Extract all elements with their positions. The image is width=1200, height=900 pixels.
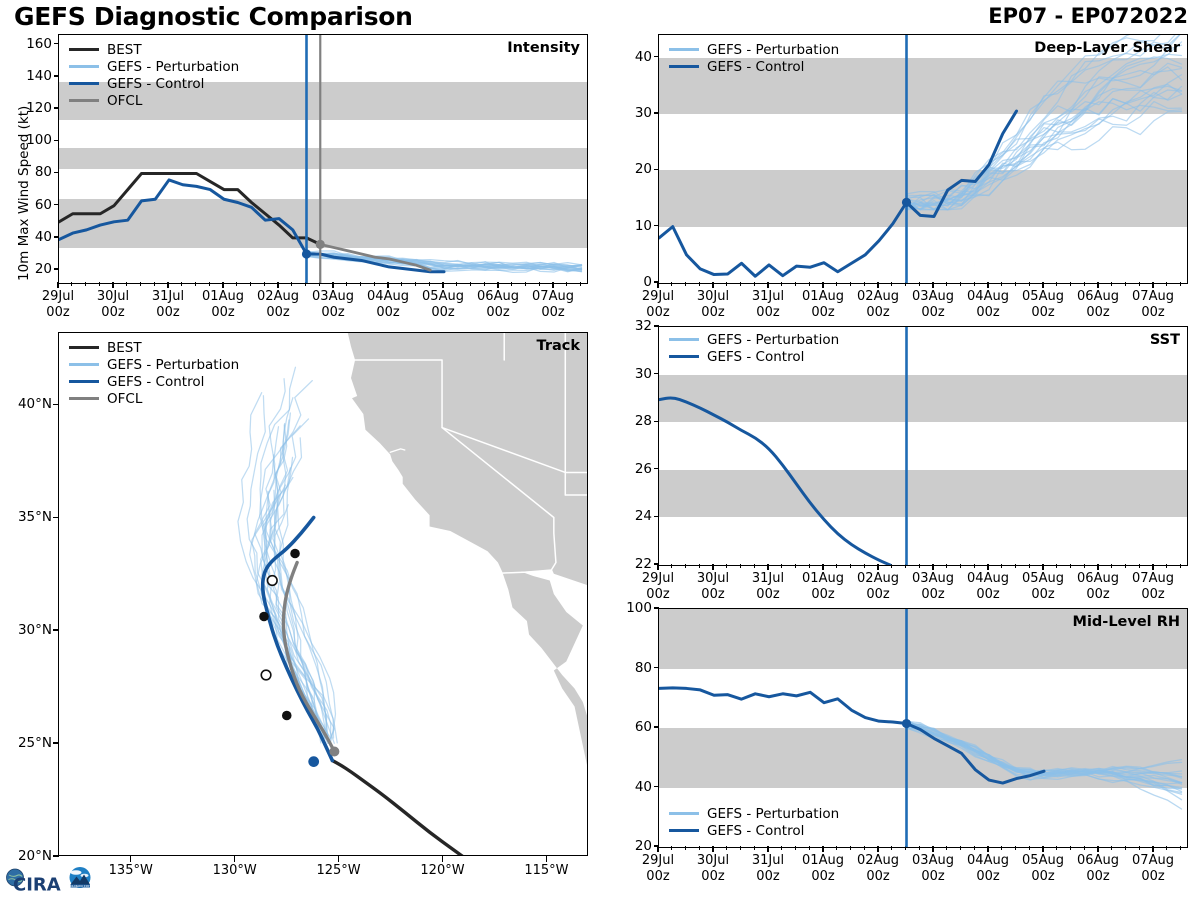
x-tick-date: 07Aug	[1132, 571, 1174, 586]
x-axis-tick-label: 02Aug00z	[857, 571, 899, 603]
x-tick-hour: 00z	[1086, 869, 1109, 884]
x-tick-date: 06Aug	[1077, 571, 1119, 586]
y-axis-tick-label: 10	[616, 218, 652, 234]
x-axis-tick-label: 04Aug00z	[967, 289, 1009, 321]
ofcl-start-marker	[329, 747, 339, 757]
series-gefs-control	[659, 688, 1044, 783]
x-tick-date: 04Aug	[967, 289, 1009, 304]
x-axis-tick-label: 06Aug00z	[477, 289, 519, 321]
legend-swatch-control	[69, 380, 99, 383]
y-axis-tick-label: 100	[616, 600, 652, 616]
lon-tick-label: 125°W	[316, 863, 360, 879]
x-tick-hour: 00z	[46, 305, 69, 320]
x-axis-tick-label: 05Aug00z	[1022, 571, 1064, 603]
x-tick-date: 01Aug	[802, 289, 844, 304]
x-tick-date: 29Jul	[642, 571, 674, 586]
x-tick-hour: 00z	[976, 869, 999, 884]
y-axis-tick-label: 80	[16, 164, 52, 180]
x-tick-hour: 00z	[1031, 869, 1054, 884]
y-axis-tick-label: 40	[16, 229, 52, 245]
shear-legend: GEFS - Perturbation GEFS - Control	[669, 41, 839, 75]
x-tick-hour: 00z	[376, 305, 399, 320]
x-tick-date: 06Aug	[1077, 853, 1119, 868]
legend-swatch-control	[669, 829, 699, 832]
y-axis-tick-label: 60	[616, 719, 652, 735]
land-western-us	[348, 333, 587, 585]
x-tick-hour: 00z	[486, 305, 509, 320]
legend-swatch-best	[69, 48, 99, 51]
sst-legend: GEFS - Perturbation GEFS - Control	[669, 331, 839, 365]
x-tick-date: 30Jul	[697, 289, 729, 304]
legend-label-perturbation: GEFS - Perturbation	[707, 806, 839, 822]
ensemble-member	[907, 724, 1182, 794]
legend-swatch-perturbation	[669, 812, 699, 815]
legend-label-ofcl: OFCL	[107, 391, 142, 407]
track-position-marker	[282, 711, 292, 721]
lon-tick	[234, 856, 235, 862]
y-axis-tick-label: 80	[616, 660, 652, 676]
x-tick-hour: 00z	[811, 869, 834, 884]
x-tick-date: 04Aug	[967, 571, 1009, 586]
x-tick-date: 05Aug	[422, 289, 464, 304]
sst-plot-area: SST GEFS - Perturbation GEFS - Control	[658, 326, 1188, 566]
x-tick-date: 04Aug	[367, 289, 409, 304]
x-axis-tick-label: 05Aug00z	[1022, 853, 1064, 885]
x-axis-tick-label: 02Aug00z	[857, 853, 899, 885]
x-axis-tick-label: 31Jul00z	[752, 289, 784, 321]
x-tick-date: 29Jul	[642, 853, 674, 868]
x-tick-date: 03Aug	[312, 289, 354, 304]
x-axis-tick-label: 31Jul00z	[752, 853, 784, 885]
x-axis-tick-label: 03Aug00z	[312, 289, 354, 321]
control-init-marker	[902, 198, 911, 207]
x-tick-date: 02Aug	[857, 289, 899, 304]
cira-logo: CIRA COLORADO STATE	[4, 862, 104, 898]
legend-label-perturbation: GEFS - Perturbation	[107, 357, 239, 373]
y-axis-tick-label: 28	[616, 413, 652, 429]
x-axis-tick-label: 31Jul00z	[152, 289, 184, 321]
x-tick-date: 30Jul	[97, 289, 129, 304]
lat-tick	[53, 855, 59, 856]
ensemble-member	[907, 722, 1182, 774]
x-axis-tick-label: 03Aug00z	[912, 289, 954, 321]
x-axis-tick-label: 29Jul00z	[642, 289, 674, 321]
svg-text:CIRA: CIRA	[13, 875, 61, 896]
x-axis-tick-label: 30Jul00z	[97, 289, 129, 321]
x-tick-hour: 00z	[1141, 869, 1164, 884]
x-tick-date: 07Aug	[1132, 853, 1174, 868]
x-axis-tick-label: 07Aug00z	[1132, 853, 1174, 885]
rh-corner-label: Mid-Level RH	[1073, 614, 1180, 630]
ensemble-member	[907, 724, 1182, 776]
x-tick-date: 01Aug	[802, 571, 844, 586]
legend-label-ofcl: OFCL	[107, 93, 142, 109]
x-tick-hour: 00z	[321, 305, 344, 320]
x-tick-date: 06Aug	[477, 289, 519, 304]
intensity-plot-area: Intensity BEST GEFS - Perturbation GEFS …	[58, 34, 588, 284]
x-axis-tick-label: 31Jul00z	[752, 571, 784, 603]
x-axis-tick-label: 07Aug00z	[1132, 571, 1174, 603]
x-tick-date: 29Jul	[42, 289, 74, 304]
legend-label-perturbation: GEFS - Perturbation	[107, 59, 239, 75]
track-legend: BEST GEFS - Perturbation GEFS - Control …	[69, 339, 239, 407]
x-axis-tick-label: 01Aug00z	[802, 571, 844, 603]
x-axis-tick-label: 29Jul00z	[642, 853, 674, 885]
y-axis-tick-label: 140	[16, 68, 52, 84]
y-axis-tick-label: 20	[616, 161, 652, 177]
svg-text:COLORADO STATE: COLORADO STATE	[69, 884, 92, 888]
x-tick-date: 06Aug	[1077, 289, 1119, 304]
legend-swatch-ofcl	[69, 99, 99, 102]
x-axis-tick-label: 04Aug00z	[367, 289, 409, 321]
x-axis-tick-label: 06Aug00z	[1077, 571, 1119, 603]
x-tick-date: 03Aug	[912, 853, 954, 868]
y-axis-tick-label: 40	[616, 779, 652, 795]
y-axis-tick-label: 0	[616, 274, 652, 290]
track-position-marker	[308, 756, 319, 767]
track-plot-area: Track BEST GEFS - Perturbation GEFS - Co…	[58, 332, 588, 856]
lon-tick-label: 130°W	[213, 863, 257, 879]
x-tick-date: 07Aug	[532, 289, 574, 304]
legend-label-best: BEST	[107, 340, 142, 356]
control-init-marker	[302, 249, 311, 258]
y-axis-tick-label: 24	[616, 508, 652, 524]
x-axis-tick-label: 30Jul00z	[697, 289, 729, 321]
x-axis-tick-label: 02Aug00z	[257, 289, 299, 321]
x-axis-tick-label: 06Aug00z	[1077, 289, 1119, 321]
y-axis-tick-label: 30	[616, 366, 652, 382]
y-axis-tick-label: 26	[616, 461, 652, 477]
panel-deep-layer-shear: 200-850 hPa Shear (kt) Deep-Layer Shear …	[600, 26, 1200, 316]
legend-swatch-perturbation	[69, 363, 99, 366]
x-axis-tick-label: 07Aug00z	[1132, 289, 1174, 321]
x-axis-tick-label: 04Aug00z	[967, 571, 1009, 603]
legend-label-control: GEFS - Control	[107, 374, 204, 390]
y-axis-tick-label: 60	[16, 197, 52, 213]
legend-label-perturbation: GEFS - Perturbation	[707, 332, 839, 348]
ofcl-init-marker	[316, 240, 325, 249]
x-axis-tick-label: 03Aug00z	[912, 853, 954, 885]
lon-tick	[338, 856, 339, 862]
track-corner-label: Track	[537, 338, 580, 354]
lat-tick-label: 35°N	[6, 509, 52, 525]
x-tick-date: 31Jul	[752, 571, 784, 586]
x-axis-tick-label: 07Aug00z	[532, 289, 574, 321]
lon-tick-label: 135°W	[109, 863, 153, 879]
x-tick-hour: 00z	[156, 305, 179, 320]
x-tick-hour: 00z	[541, 305, 564, 320]
track-best	[332, 761, 479, 855]
ensemble-member	[907, 57, 1182, 210]
x-tick-hour: 00z	[921, 869, 944, 884]
x-tick-hour: 00z	[211, 305, 234, 320]
x-axis-tick-label: 01Aug00z	[202, 289, 244, 321]
x-tick-hour: 00z	[866, 869, 889, 884]
panel-sst: Sea Surface Temp (°C) SST GEFS - Perturb…	[600, 318, 1200, 598]
ensemble-member	[907, 45, 1182, 206]
x-tick-date: 31Jul	[152, 289, 184, 304]
gefs-diagnostic-page: GEFS Diagnostic Comparison EP07 - EP0720…	[0, 0, 1200, 900]
legend-swatch-perturbation	[669, 48, 699, 51]
legend-swatch-perturbation	[669, 338, 699, 341]
intensity-corner-label: Intensity	[507, 40, 580, 56]
y-axis-tick-label: 40	[616, 49, 652, 65]
legend-label-control: GEFS - Control	[707, 823, 804, 839]
legend-swatch-control	[69, 82, 99, 85]
x-axis-tick-label: 02Aug00z	[857, 289, 899, 321]
x-axis-tick-label: 05Aug00z	[422, 289, 464, 321]
x-axis-tick-label: 03Aug00z	[912, 571, 954, 603]
x-tick-hour: 00z	[646, 869, 669, 884]
track-position-marker	[259, 612, 269, 622]
legend-swatch-control	[669, 65, 699, 68]
x-tick-date: 05Aug	[1022, 571, 1064, 586]
panel-intensity: 10m Max Wind Speed (kt) Intensity BEST G…	[0, 26, 600, 316]
y-axis-tick-label: 20	[616, 838, 652, 854]
series-gefs-control	[659, 398, 890, 565]
legend-swatch-control	[669, 355, 699, 358]
x-tick-date: 31Jul	[752, 853, 784, 868]
x-tick-date: 30Jul	[697, 853, 729, 868]
sst-corner-label: SST	[1150, 332, 1180, 348]
x-tick-hour: 00z	[431, 305, 454, 320]
panel-track: Track BEST GEFS - Perturbation GEFS - Co…	[0, 326, 600, 866]
legend-swatch-best	[69, 346, 99, 349]
y-axis-tick-label: 32	[616, 318, 652, 334]
x-tick-hour: 00z	[701, 869, 724, 884]
x-tick-date: 01Aug	[802, 853, 844, 868]
y-axis-tick-label: 100	[16, 132, 52, 148]
x-tick-date: 29Jul	[642, 289, 674, 304]
legend-label-control: GEFS - Control	[107, 76, 204, 92]
x-tick-date: 05Aug	[1022, 853, 1064, 868]
x-tick-date: 31Jul	[752, 289, 784, 304]
panel-mid-level-rh: 700-500 hPa Humidity (%) Mid-Level RH GE…	[600, 600, 1200, 900]
lon-tick	[130, 856, 131, 862]
x-tick-hour: 00z	[266, 305, 289, 320]
x-tick-date: 02Aug	[857, 853, 899, 868]
lat-tick-label: 25°N	[6, 735, 52, 751]
x-axis-tick-label: 30Jul00z	[697, 571, 729, 603]
y-axis-tick-label: 30	[616, 105, 652, 121]
control-init-marker	[902, 719, 911, 728]
rh-plot-area: Mid-Level RH GEFS - Perturbation GEFS - …	[658, 608, 1188, 848]
rh-legend: GEFS - Perturbation GEFS - Control	[669, 805, 839, 839]
legend-label-best: BEST	[107, 42, 142, 58]
legend-label-control: GEFS - Control	[707, 349, 804, 365]
x-axis-tick-label: 30Jul00z	[697, 853, 729, 885]
x-axis-tick-label: 06Aug00z	[1077, 853, 1119, 885]
lat-tick-label: 40°N	[6, 396, 52, 412]
x-tick-date: 07Aug	[1132, 289, 1174, 304]
x-tick-date: 02Aug	[257, 289, 299, 304]
intensity-legend: BEST GEFS - Perturbation GEFS - Control …	[69, 41, 239, 109]
lon-tick-label: 115°W	[524, 863, 568, 879]
ensemble-member	[907, 723, 1182, 784]
x-tick-hour: 00z	[756, 869, 779, 884]
x-tick-date: 05Aug	[1022, 289, 1064, 304]
track-position-marker	[261, 670, 271, 680]
land-baja-california	[502, 571, 587, 765]
x-tick-date: 03Aug	[912, 571, 954, 586]
x-tick-date: 01Aug	[202, 289, 244, 304]
y-axis-tick-label: 20	[16, 261, 52, 277]
x-tick-hour: 00z	[101, 305, 124, 320]
y-axis-tick-label: 22	[616, 556, 652, 572]
x-tick-date: 03Aug	[912, 289, 954, 304]
legend-label-control: GEFS - Control	[707, 59, 804, 75]
lon-tick-label: 120°W	[420, 863, 464, 879]
x-tick-date: 02Aug	[857, 571, 899, 586]
legend-label-perturbation: GEFS - Perturbation	[707, 42, 839, 58]
lon-tick	[442, 856, 443, 862]
ensemble-member	[907, 54, 1182, 209]
lat-tick-label: 30°N	[6, 622, 52, 638]
x-axis-tick-label: 01Aug00z	[802, 289, 844, 321]
lon-tick	[546, 856, 547, 862]
x-tick-date: 30Jul	[697, 571, 729, 586]
shear-corner-label: Deep-Layer Shear	[1034, 40, 1180, 56]
legend-swatch-ofcl	[69, 397, 99, 400]
x-axis-tick-label: 05Aug00z	[1022, 289, 1064, 321]
track-position-marker	[267, 576, 277, 586]
x-axis-tick-label: 04Aug00z	[967, 853, 1009, 885]
shear-plot-area: Deep-Layer Shear GEFS - Perturbation GEF…	[658, 34, 1188, 284]
y-axis-tick-label: 160	[16, 36, 52, 52]
track-position-marker	[290, 549, 300, 559]
x-axis-tick-label: 29Jul00z	[642, 571, 674, 603]
storm-id-title: EP07 - EP072022	[988, 4, 1188, 28]
legend-swatch-perturbation	[69, 65, 99, 68]
x-tick-date: 04Aug	[967, 853, 1009, 868]
y-axis-tick-label: 120	[16, 100, 52, 116]
x-axis-tick-label: 29Jul00z	[42, 289, 74, 321]
x-axis-tick-label: 01Aug00z	[802, 853, 844, 885]
